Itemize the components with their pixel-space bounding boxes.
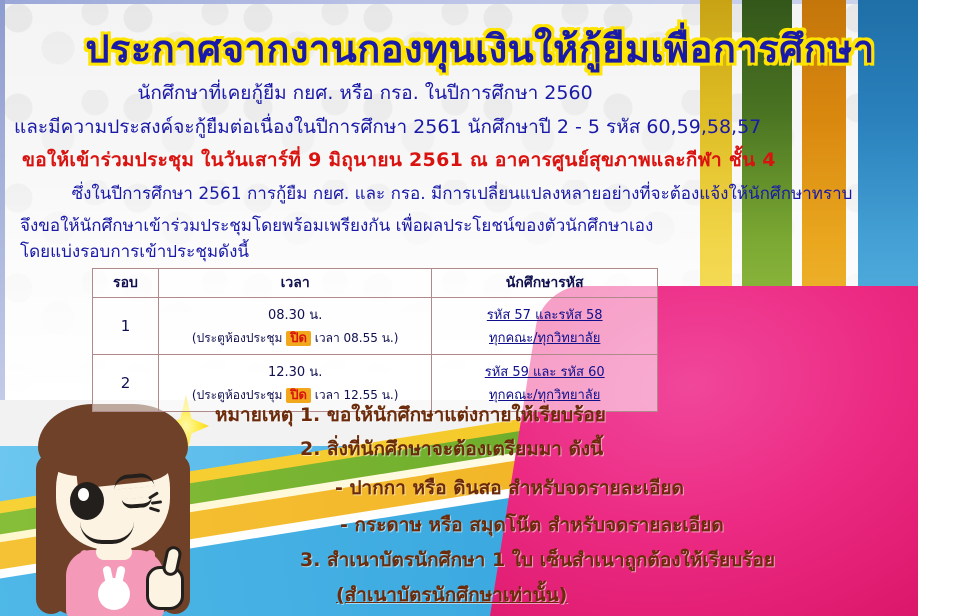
intro-line-2: และมีความประสงค์จะกู้ยืมต่อเนื่องในปีการ… bbox=[14, 112, 960, 142]
code-line-1: รหัส 57 และรหัส 58 bbox=[436, 304, 653, 325]
cell-round: 1 bbox=[93, 298, 159, 355]
table-header-row: รอบ เวลา นักศึกษารหัส bbox=[93, 269, 658, 298]
time-note: (ประตูห้องประชุม ปิด เวลา 08.55 น.) bbox=[163, 327, 427, 348]
intro-line-1: นักศึกษาที่เคยกู้ยืม กยศ. หรือ กรอ. ในปี… bbox=[0, 78, 960, 108]
cell-student-codes: รหัส 57 และรหัส 58 ทุกคณะ/ทุกวิทยาลัย bbox=[432, 298, 658, 355]
note-line-3: - ปากกา หรือ ดินสอ สำหรับจดรายละเอียด bbox=[335, 473, 684, 503]
code-line-1: รหัส 59 และ รหัส 60 bbox=[436, 361, 653, 382]
note-line-5: 3. สำเนาบัตรนักศึกษา 1 ใบ เซ็นสำเนาถูกต้… bbox=[300, 545, 775, 575]
intro-line-6: โดยแบ่งรอบการเข้าประชุมดังนี้ bbox=[20, 238, 960, 265]
mascot-cartoon-girl bbox=[18, 398, 208, 616]
intro-line-5: จึงขอให้นักศึกษาเข้าร่วมประชุมโดยพร้อมเพ… bbox=[20, 212, 960, 239]
intro-line-4: ซึ่งในปีการศึกษา 2561 การกู้ยืม กยศ. และ… bbox=[0, 180, 960, 207]
status-badge-closed: ปิด bbox=[286, 331, 311, 346]
table-row: 1 08.30 น. (ประตูห้องประชุม ปิด เวลา 08.… bbox=[93, 298, 658, 355]
mascot-strap-left bbox=[80, 550, 89, 576]
column-header-code: นักศึกษารหัส bbox=[432, 269, 658, 298]
time-note-after: เวลา 08.55 น.) bbox=[315, 331, 399, 345]
column-header-round: รอบ bbox=[93, 269, 159, 298]
mascot-eye-left bbox=[70, 482, 104, 520]
code-line-2: ทุกคณะ/ทุกวิทยาลัย bbox=[436, 327, 653, 348]
page-title: ประกาศจากงานกองทุนเงินให้กู้ยืมเพื่อการศ… bbox=[0, 18, 960, 79]
meeting-date-line: ขอให้เข้าร่วมประชุม ในวันเสาร์ที่ 9 มิถุ… bbox=[22, 145, 960, 175]
time-main: 08.30 น. bbox=[163, 304, 427, 325]
time-note-before: (ประตูห้องประชุม bbox=[192, 331, 283, 345]
column-header-time: เวลา bbox=[158, 269, 431, 298]
note-line-6: (สำเนาบัตรนักศึกษาเท่านั้น) bbox=[336, 580, 567, 610]
note-line-1: หมายเหตุ 1. ขอให้นักศึกษาแต่งกายให้เรียบ… bbox=[215, 400, 606, 430]
poster-canvas: ประกาศจากงานกองทุนเงินให้กู้ยืมเพื่อการศ… bbox=[0, 0, 960, 616]
cell-time: 08.30 น. (ประตูห้องประชุม ปิด เวลา 08.55… bbox=[158, 298, 431, 355]
time-main: 12.30 น. bbox=[163, 361, 427, 382]
note-line-2: 2. สิ่งที่นักศึกษาจะต้องเตรียมมา ดังนี้ bbox=[300, 434, 603, 464]
cell-round: 2 bbox=[93, 355, 159, 412]
schedule-table-wrapper: รอบ เวลา นักศึกษารหัส 1 08.30 น. (ประตูห… bbox=[92, 268, 658, 412]
note-line-4: - กระดาษ หรือ สมุดโน๊ต สำหรับจดรายละเอีย… bbox=[340, 510, 724, 540]
schedule-table: รอบ เวลา นักศึกษารหัส 1 08.30 น. (ประตูห… bbox=[92, 268, 658, 412]
bunny-icon bbox=[98, 578, 130, 610]
